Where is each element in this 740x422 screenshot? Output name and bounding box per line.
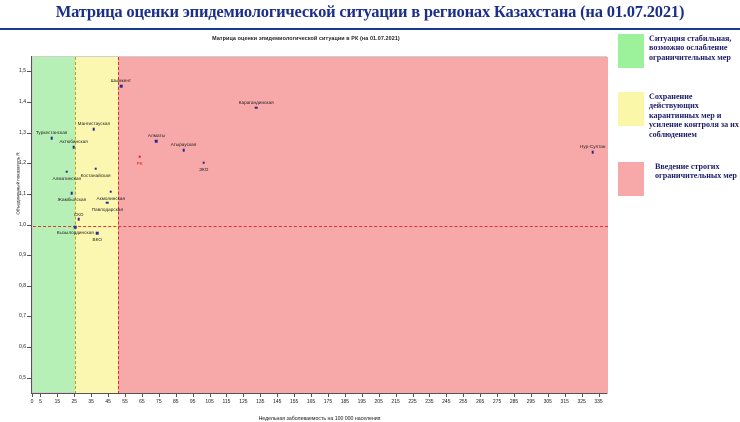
- legend-label-restricted: Введение строгих ограничительных мер: [655, 162, 739, 181]
- x-tick: [142, 393, 143, 397]
- data-point-label: Костанайская: [81, 173, 111, 178]
- x-tick: [362, 393, 363, 397]
- x-tick: [40, 393, 41, 397]
- x-tick-label: 275: [493, 399, 501, 405]
- y-tick-label: 0,7: [8, 313, 26, 319]
- data-point: [96, 232, 99, 235]
- data-point-label: Жамбылская: [58, 197, 87, 202]
- y-tick-label: 0,6: [8, 344, 26, 350]
- y-tick: [27, 71, 31, 72]
- x-tick: [74, 393, 75, 397]
- x-tick: [311, 393, 312, 397]
- data-point-label: Алматинская: [53, 176, 82, 181]
- x-tick-label: 45: [105, 399, 111, 405]
- x-tick: [294, 393, 295, 397]
- x-tick: [514, 393, 515, 397]
- legend-swatch-yellow: [618, 92, 644, 126]
- data-point: [106, 201, 109, 204]
- x-tick: [463, 393, 464, 397]
- data-point-label: Актюбинская: [59, 139, 87, 144]
- y-tick: [27, 133, 31, 134]
- x-tick-label: 125: [239, 399, 247, 405]
- page-title: Матрица оценки эпидемиологической ситуац…: [0, 2, 740, 22]
- y-tick-label: 1,4: [8, 99, 26, 105]
- x-tick-label: 0: [31, 399, 34, 405]
- x-tick: [413, 393, 414, 397]
- x-tick: [176, 393, 177, 397]
- data-point: [109, 191, 112, 194]
- x-tick-label: 155: [290, 399, 298, 405]
- x-tick-label: 325: [577, 399, 585, 405]
- zone-restricted-upper: [118, 57, 608, 226]
- x-tick-label: 245: [442, 399, 450, 405]
- x-tick: [599, 393, 600, 397]
- x-tick-label: 85: [173, 399, 179, 405]
- x-tick: [226, 393, 227, 397]
- x-tick-label: 235: [425, 399, 433, 405]
- x-tick: [193, 393, 194, 397]
- data-point-label: Мангистауская: [78, 121, 110, 126]
- data-point: [155, 140, 158, 143]
- x-tick: [277, 393, 278, 397]
- data-point-label: Павлодарская: [92, 207, 123, 212]
- x-axis-line: [32, 393, 607, 394]
- x-tick: [565, 393, 566, 397]
- x-tick-label: 225: [408, 399, 416, 405]
- x-tick-label: 145: [273, 399, 281, 405]
- chart-title: Матрица оценки эпидемиологической ситуац…: [0, 36, 612, 42]
- data-point-label: ЗКО: [199, 167, 208, 172]
- x-tick: [548, 393, 549, 397]
- data-point-label: Атырауская: [171, 142, 197, 147]
- page-header: Матрица оценки эпидемиологической ситуац…: [0, 0, 740, 30]
- x-tick: [210, 393, 211, 397]
- chart-panel: Матрица оценки эпидемиологической ситуац…: [0, 31, 612, 411]
- x-tick-label: 165: [307, 399, 315, 405]
- x-tick: [345, 393, 346, 397]
- data-point: [93, 128, 96, 131]
- x-tick-label: 35: [88, 399, 94, 405]
- x-tick: [328, 393, 329, 397]
- data-point: [71, 192, 74, 195]
- data-point-label: Алматы: [148, 133, 165, 138]
- x-tick-label: 215: [391, 399, 399, 405]
- legend-label-stable: Ситуация стабильная, возможно ослабление…: [649, 34, 739, 62]
- x-tick-label: 65: [139, 399, 145, 405]
- x-tick: [396, 393, 397, 397]
- x-tick-label: 205: [375, 399, 383, 405]
- x-tick: [497, 393, 498, 397]
- x-tick: [125, 393, 126, 397]
- data-point-label: Шымкент: [111, 78, 131, 83]
- x-tick: [108, 393, 109, 397]
- y-tick: [27, 286, 31, 287]
- x-tick-label: 5: [39, 399, 42, 405]
- x-tick-label: 265: [476, 399, 484, 405]
- x-axis-title: Недельная заболеваемость на 100 000 насе…: [32, 416, 607, 422]
- x-tick: [429, 393, 430, 397]
- legend-swatch-red: [618, 162, 644, 196]
- x-tick: [531, 393, 532, 397]
- scatter-plot-area: ШымкентКарагандинскаяМангистаускаяТуркес…: [32, 56, 607, 393]
- data-point: [591, 151, 594, 154]
- y-tick: [27, 194, 31, 195]
- data-point: [120, 85, 123, 88]
- x-tick-label: 175: [324, 399, 332, 405]
- data-point: [138, 155, 141, 158]
- y-axis-line: [31, 56, 32, 394]
- data-point: [94, 168, 97, 171]
- x-tick: [57, 393, 58, 397]
- x-tick-label: 25: [71, 399, 77, 405]
- x-tick-label: 195: [358, 399, 366, 405]
- x-tick: [32, 393, 33, 397]
- y-tick: [27, 347, 31, 348]
- y-tick-label: 0,8: [8, 283, 26, 289]
- data-point: [50, 137, 53, 140]
- legend: Ситуация стабильная, возможно ослабление…: [616, 34, 740, 234]
- x-tick-label: 185: [341, 399, 349, 405]
- x-tick: [582, 393, 583, 397]
- x-tick-label: 255: [459, 399, 467, 405]
- data-point-label: Нур-Султан: [580, 144, 606, 149]
- x-tick: [159, 393, 160, 397]
- x-tick-label: 285: [510, 399, 518, 405]
- y-axis-title: Объединенный показатель R: [16, 114, 21, 254]
- legend-swatch-green: [618, 34, 644, 68]
- y-tick: [27, 163, 31, 164]
- y-tick-label: 1,5: [8, 68, 26, 74]
- zone-restricted-lower: [118, 226, 608, 395]
- y-tick: [27, 102, 31, 103]
- x-tick: [91, 393, 92, 397]
- data-point-label: ВКО: [93, 237, 102, 242]
- x-tick-label: 75: [156, 399, 162, 405]
- x-tick-label: 315: [561, 399, 569, 405]
- data-point: [74, 226, 77, 229]
- data-point-label: Кызылординская: [57, 230, 94, 235]
- x-tick: [260, 393, 261, 397]
- x-tick: [243, 393, 244, 397]
- y-tick-label: 0,5: [8, 375, 26, 381]
- x-tick-label: 135: [256, 399, 264, 405]
- x-tick: [480, 393, 481, 397]
- data-point-label: Туркестанская: [36, 130, 68, 135]
- x-tick-label: 115: [222, 399, 230, 405]
- data-point-label: СКО: [74, 212, 84, 217]
- threshold-line-incidence-high: [118, 57, 119, 394]
- x-tick: [379, 393, 380, 397]
- data-point: [66, 171, 69, 174]
- legend-label-moderate: Сохранение действующих карантинных мер и…: [649, 92, 739, 139]
- x-tick-label: 15: [55, 399, 61, 405]
- data-point-label: РК: [137, 161, 143, 166]
- data-point: [182, 149, 185, 152]
- x-tick: [446, 393, 447, 397]
- x-tick-label: 335: [594, 399, 602, 405]
- x-tick-label: 295: [527, 399, 535, 405]
- x-tick-label: 95: [190, 399, 196, 405]
- zone-moderate-lower: [75, 226, 117, 395]
- y-tick: [27, 255, 31, 256]
- y-tick: [27, 225, 31, 226]
- data-point: [203, 161, 206, 164]
- threshold-line-r: [33, 226, 608, 227]
- data-point: [72, 146, 75, 149]
- x-tick-label: 305: [544, 399, 552, 405]
- data-point: [255, 106, 258, 109]
- data-point-label: Карагандинская: [239, 100, 274, 105]
- x-tick-label: 105: [205, 399, 213, 405]
- x-tick-label: 55: [122, 399, 128, 405]
- data-point: [77, 218, 80, 221]
- data-point-label: Акмолинская: [97, 196, 125, 201]
- y-tick: [27, 316, 31, 317]
- y-tick: [27, 378, 31, 379]
